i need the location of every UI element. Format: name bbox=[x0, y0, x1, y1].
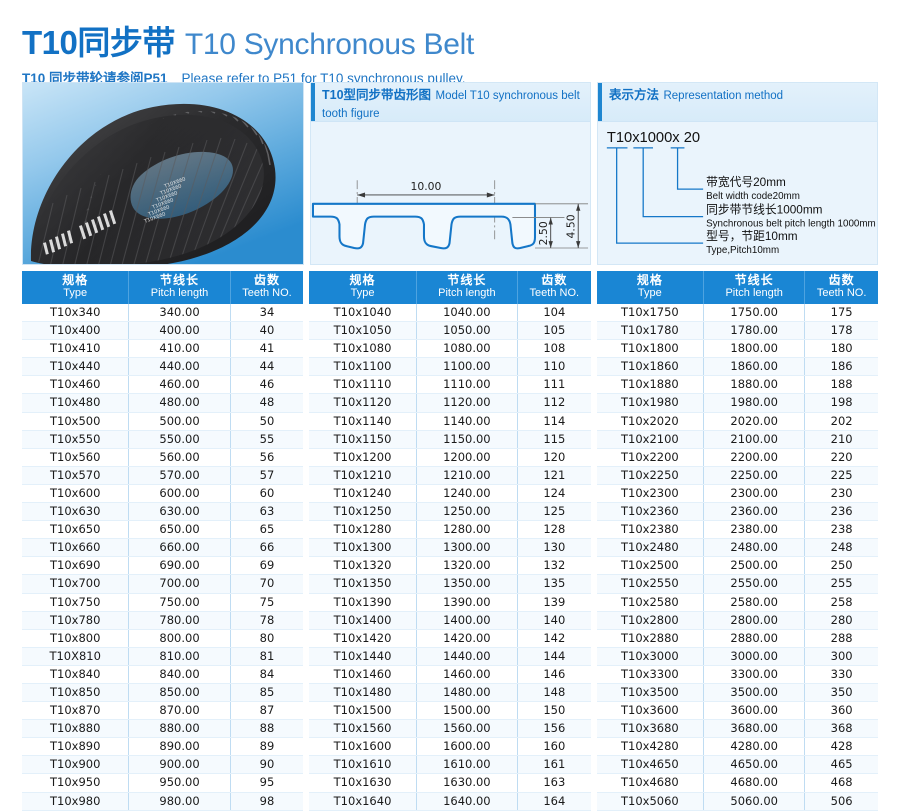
cell-teeth: 300 bbox=[805, 647, 878, 665]
table-row: T10x13901390.00139 bbox=[309, 593, 590, 611]
cell-pitch-length: 1100.00 bbox=[416, 358, 517, 376]
cell-teeth: 248 bbox=[805, 539, 878, 557]
cell-pitch-length: 1250.00 bbox=[416, 503, 517, 521]
header-type-en: Type bbox=[309, 287, 415, 300]
table-row: T10x11001100.00110 bbox=[309, 358, 590, 376]
cell-type: T10x1080 bbox=[309, 340, 416, 358]
cell-teeth: 161 bbox=[517, 756, 590, 774]
table-row: T10x14801480.00148 bbox=[309, 683, 590, 701]
table-row: T10x13501350.00135 bbox=[309, 575, 590, 593]
table-row: T10x42804280.00428 bbox=[597, 738, 878, 756]
cell-pitch-length: 400.00 bbox=[129, 322, 230, 340]
header-type: 规格 Type bbox=[597, 271, 704, 304]
cell-type: T10x400 bbox=[22, 322, 129, 340]
cell-type: T10x560 bbox=[22, 448, 129, 466]
cell-teeth: 238 bbox=[805, 521, 878, 539]
cell-teeth: 130 bbox=[517, 539, 590, 557]
table-row: T10x21002100.00210 bbox=[597, 430, 878, 448]
spec-table-2-body: T10x10401040.00104T10x10501050.00105T10x… bbox=[309, 304, 590, 811]
header-teeth: 齿数 Teeth NO. bbox=[805, 271, 878, 304]
tooth-figure-body: 10.00 bbox=[311, 122, 590, 266]
cell-pitch-length: 1050.00 bbox=[416, 322, 517, 340]
cell-pitch-length: 480.00 bbox=[129, 394, 230, 412]
cell-teeth: 56 bbox=[230, 448, 303, 466]
cell-pitch-length: 2250.00 bbox=[704, 466, 805, 484]
cell-teeth: 85 bbox=[230, 683, 303, 701]
cell-type: T10x3680 bbox=[597, 720, 704, 738]
header-length-cn: 节线长 bbox=[704, 274, 804, 287]
cell-pitch-length: 810.00 bbox=[129, 647, 230, 665]
cell-pitch-length: 2360.00 bbox=[704, 503, 805, 521]
cell-type: T10x1860 bbox=[597, 358, 704, 376]
table-row: T10x18801880.00188 bbox=[597, 376, 878, 394]
cell-pitch-length: 850.00 bbox=[129, 683, 230, 701]
cell-type: T10x1750 bbox=[597, 304, 704, 322]
cell-teeth: 150 bbox=[517, 702, 590, 720]
cell-type: T10x1050 bbox=[309, 322, 416, 340]
table-row: T10x13201320.00132 bbox=[309, 557, 590, 575]
cell-teeth: 128 bbox=[517, 521, 590, 539]
cell-type: T10x480 bbox=[22, 394, 129, 412]
cell-teeth: 255 bbox=[805, 575, 878, 593]
cell-pitch-length: 1300.00 bbox=[416, 539, 517, 557]
cell-teeth: 66 bbox=[230, 539, 303, 557]
header-pitch-length: 节线长 Pitch length bbox=[704, 271, 805, 304]
table-row: T10x500500.0050 bbox=[22, 412, 303, 430]
cell-type: T10x550 bbox=[22, 430, 129, 448]
cell-teeth: 368 bbox=[805, 720, 878, 738]
cell-teeth: 124 bbox=[517, 484, 590, 502]
cell-teeth: 350 bbox=[805, 683, 878, 701]
cell-pitch-length: 2480.00 bbox=[704, 539, 805, 557]
cell-teeth: 258 bbox=[805, 593, 878, 611]
table-row: T10x23802380.00238 bbox=[597, 521, 878, 539]
cell-type: T10x1120 bbox=[309, 394, 416, 412]
table-row: T10x14601460.00146 bbox=[309, 665, 590, 683]
cell-pitch-length: 1600.00 bbox=[416, 738, 517, 756]
cell-type: T10x1800 bbox=[597, 340, 704, 358]
cell-teeth: 132 bbox=[517, 557, 590, 575]
cell-type: T10x950 bbox=[22, 774, 129, 792]
cell-teeth: 220 bbox=[805, 448, 878, 466]
cell-teeth: 360 bbox=[805, 702, 878, 720]
cell-pitch-length: 2380.00 bbox=[704, 521, 805, 539]
cell-pitch-length: 650.00 bbox=[129, 521, 230, 539]
cell-teeth: 111 bbox=[517, 376, 590, 394]
table-row: T10x600600.0060 bbox=[22, 484, 303, 502]
cell-type: T10x4680 bbox=[597, 774, 704, 792]
cell-type: T10x850 bbox=[22, 683, 129, 701]
cell-teeth: 178 bbox=[805, 322, 878, 340]
cell-type: T10x2550 bbox=[597, 575, 704, 593]
cell-pitch-length: 1500.00 bbox=[416, 702, 517, 720]
cell-teeth: 120 bbox=[517, 448, 590, 466]
spec-table-3: 规格 Type 节线长 Pitch length 齿数 Teeth NO. bbox=[597, 271, 878, 811]
cell-pitch-length: 2100.00 bbox=[704, 430, 805, 448]
cell-pitch-length: 4280.00 bbox=[704, 738, 805, 756]
table-row: T10x880880.0088 bbox=[22, 720, 303, 738]
table-row: T10x400400.0040 bbox=[22, 322, 303, 340]
cell-teeth: 250 bbox=[805, 557, 878, 575]
cell-pitch-length: 2580.00 bbox=[704, 593, 805, 611]
cell-teeth: 108 bbox=[517, 340, 590, 358]
cell-teeth: 188 bbox=[805, 376, 878, 394]
table-row: T10x50605060.00506 bbox=[597, 792, 878, 810]
cell-pitch-length: 900.00 bbox=[129, 756, 230, 774]
cell-pitch-length: 980.00 bbox=[129, 792, 230, 810]
cell-type: T10x890 bbox=[22, 738, 129, 756]
cell-pitch-length: 500.00 bbox=[129, 412, 230, 430]
cell-pitch-length: 3680.00 bbox=[704, 720, 805, 738]
cell-teeth: 41 bbox=[230, 340, 303, 358]
cell-teeth: 280 bbox=[805, 611, 878, 629]
representation-method-panel: 表示方法 Representation method T10x1000x 20 bbox=[597, 82, 878, 265]
table-row: T10x22502250.00225 bbox=[597, 466, 878, 484]
cell-type: T10x570 bbox=[22, 466, 129, 484]
cell-type: T10x1880 bbox=[597, 376, 704, 394]
table-row: T10x12801280.00128 bbox=[309, 521, 590, 539]
table-row: T10x650650.0065 bbox=[22, 521, 303, 539]
table-row: T10x11101110.00111 bbox=[309, 376, 590, 394]
representation-body: T10x1000x 20 带宽代号20mm Belt width code20m… bbox=[598, 122, 877, 266]
table-row: T10x460460.0046 bbox=[22, 376, 303, 394]
cell-teeth: 95 bbox=[230, 774, 303, 792]
belt-photo-panel: T10X660 T10X660 T10X660 T10X660 T10X660 … bbox=[22, 82, 304, 265]
table-row: T10x25802580.00258 bbox=[597, 593, 878, 611]
cell-teeth: 105 bbox=[517, 322, 590, 340]
cell-pitch-length: 840.00 bbox=[129, 665, 230, 683]
cell-pitch-length: 1390.00 bbox=[416, 593, 517, 611]
cell-teeth: 55 bbox=[230, 430, 303, 448]
cell-pitch-length: 1120.00 bbox=[416, 394, 517, 412]
leader-lines bbox=[607, 148, 703, 243]
cell-teeth: 180 bbox=[805, 340, 878, 358]
table-row: T10X810810.0081 bbox=[22, 647, 303, 665]
table-row: T10x870870.0087 bbox=[22, 702, 303, 720]
table-row: T10x690690.0069 bbox=[22, 557, 303, 575]
cell-type: T10x5060 bbox=[597, 792, 704, 810]
table-row: T10x11501150.00115 bbox=[309, 430, 590, 448]
cell-type: T10x650 bbox=[22, 521, 129, 539]
cell-type: T10x1480 bbox=[309, 683, 416, 701]
note-0-en: Belt width code20mm bbox=[706, 191, 800, 202]
table-row: T10x780780.0078 bbox=[22, 611, 303, 629]
header-length-en: Pitch length bbox=[129, 287, 229, 300]
header-teeth-en: Teeth NO. bbox=[518, 287, 591, 300]
title-line: T10同步带 T10 Synchronous Belt bbox=[22, 16, 878, 64]
note-0-cn: 带宽代号20mm bbox=[706, 175, 786, 189]
table-row: T10x46804680.00468 bbox=[597, 774, 878, 792]
cell-type: T10x1560 bbox=[309, 720, 416, 738]
note-2-cn: 型号，节距10mm bbox=[706, 229, 798, 243]
cell-teeth: 44 bbox=[230, 358, 303, 376]
spec-table-3-wrap: 规格 Type 节线长 Pitch length 齿数 Teeth NO. bbox=[597, 271, 878, 811]
table-row: T10x11401140.00114 bbox=[309, 412, 590, 430]
header-pitch-length: 节线长 Pitch length bbox=[129, 271, 230, 304]
cell-type: T10x1320 bbox=[309, 557, 416, 575]
cell-type: T10x2800 bbox=[597, 611, 704, 629]
representation-header: 表示方法 Representation method bbox=[598, 83, 877, 122]
cell-pitch-length: 880.00 bbox=[129, 720, 230, 738]
cell-teeth: 50 bbox=[230, 412, 303, 430]
cell-pitch-length: 1800.00 bbox=[704, 340, 805, 358]
cell-teeth: 90 bbox=[230, 756, 303, 774]
table-row: T10x15001500.00150 bbox=[309, 702, 590, 720]
note-1-en: Synchronous belt pitch length 1000mm bbox=[706, 218, 876, 229]
table-row: T10x560560.0056 bbox=[22, 448, 303, 466]
cell-pitch-length: 1880.00 bbox=[704, 376, 805, 394]
cell-type: T10x1610 bbox=[309, 756, 416, 774]
cell-type: T10x2200 bbox=[597, 448, 704, 466]
representation-code: T10x1000x 20 bbox=[607, 130, 700, 146]
table-row: T10x17501750.00175 bbox=[597, 304, 878, 322]
header-length-cn: 节线长 bbox=[129, 274, 229, 287]
representation-title-en: Representation method bbox=[663, 90, 783, 102]
cell-type: T10x880 bbox=[22, 720, 129, 738]
cell-pitch-length: 1460.00 bbox=[416, 665, 517, 683]
cell-type: T10x1400 bbox=[309, 611, 416, 629]
cell-type: T10x2880 bbox=[597, 629, 704, 647]
page-title-block: T10同步带 T10 Synchronous Belt T10 同步带轮请参阅P… bbox=[22, 16, 878, 87]
table-row: T10x22002200.00220 bbox=[597, 448, 878, 466]
cell-pitch-length: 1320.00 bbox=[416, 557, 517, 575]
spec-table-3-body: T10x17501750.00175T10x17801780.00178T10x… bbox=[597, 304, 878, 811]
cell-type: T10x800 bbox=[22, 629, 129, 647]
table-row: T10x25502550.00255 bbox=[597, 575, 878, 593]
cell-type: T10x780 bbox=[22, 611, 129, 629]
cell-teeth: 87 bbox=[230, 702, 303, 720]
cell-pitch-length: 870.00 bbox=[129, 702, 230, 720]
cell-pitch-length: 1200.00 bbox=[416, 448, 517, 466]
cell-teeth: 146 bbox=[517, 665, 590, 683]
cell-type: T10x980 bbox=[22, 792, 129, 810]
cell-pitch-length: 1210.00 bbox=[416, 466, 517, 484]
cell-type: T10x3300 bbox=[597, 665, 704, 683]
table-header-row: 规格 Type 节线长 Pitch length 齿数 Teeth NO. bbox=[309, 271, 590, 304]
cell-pitch-length: 3500.00 bbox=[704, 683, 805, 701]
table-row: T10x12401240.00124 bbox=[309, 484, 590, 502]
table-row: T10x14401440.00144 bbox=[309, 647, 590, 665]
cell-teeth: 78 bbox=[230, 611, 303, 629]
cell-teeth: 236 bbox=[805, 503, 878, 521]
cell-type: T10x1640 bbox=[309, 792, 416, 810]
cell-teeth: 175 bbox=[805, 304, 878, 322]
cell-teeth: 115 bbox=[517, 430, 590, 448]
table-row: T10x25002500.00250 bbox=[597, 557, 878, 575]
cell-pitch-length: 1780.00 bbox=[704, 322, 805, 340]
representation-title-cn: 表示方法 bbox=[609, 88, 659, 102]
cell-pitch-length: 1110.00 bbox=[416, 376, 517, 394]
cell-teeth: 98 bbox=[230, 792, 303, 810]
cell-type: T10x2580 bbox=[597, 593, 704, 611]
cell-teeth: 225 bbox=[805, 466, 878, 484]
cell-teeth: 84 bbox=[230, 665, 303, 683]
spec-table-2: 规格 Type 节线长 Pitch length 齿数 Teeth NO. bbox=[309, 271, 590, 811]
table-row: T10x440440.0044 bbox=[22, 358, 303, 376]
cell-pitch-length: 1860.00 bbox=[704, 358, 805, 376]
tooth-figure-title-cn: T10型同步带齿形图 bbox=[322, 88, 431, 102]
total-thickness-label: 4.50 bbox=[564, 214, 577, 238]
cell-type: T10x3500 bbox=[597, 683, 704, 701]
cell-pitch-length: 2500.00 bbox=[704, 557, 805, 575]
cell-pitch-length: 1440.00 bbox=[416, 647, 517, 665]
tooth-figure-header: T10型同步带齿形图 Model T10 synchronous belt to… bbox=[311, 83, 590, 122]
pitch-dimension-label: 10.00 bbox=[410, 180, 441, 193]
table-row: T10x36003600.00360 bbox=[597, 702, 878, 720]
header-teeth-en: Teeth NO. bbox=[805, 287, 878, 300]
cell-teeth: 34 bbox=[230, 304, 303, 322]
cell-teeth: 330 bbox=[805, 665, 878, 683]
cell-type: T10x4280 bbox=[597, 738, 704, 756]
spec-tables: 规格 Type 节线长 Pitch length 齿数 Teeth NO. bbox=[22, 271, 878, 811]
header-pitch-length: 节线长 Pitch length bbox=[416, 271, 517, 304]
cell-pitch-length: 1040.00 bbox=[416, 304, 517, 322]
cell-teeth: 164 bbox=[517, 792, 590, 810]
cell-pitch-length: 1140.00 bbox=[416, 412, 517, 430]
cell-type: T10x900 bbox=[22, 756, 129, 774]
cell-teeth: 506 bbox=[805, 792, 878, 810]
table-row: T10x700700.0070 bbox=[22, 575, 303, 593]
table-row: T10x28802880.00288 bbox=[597, 629, 878, 647]
table-row: T10x850850.0085 bbox=[22, 683, 303, 701]
cell-type: T10x340 bbox=[22, 304, 129, 322]
table-header-row: 规格 Type 节线长 Pitch length 齿数 Teeth NO. bbox=[597, 271, 878, 304]
cell-pitch-length: 1980.00 bbox=[704, 394, 805, 412]
cell-type: T10x2300 bbox=[597, 484, 704, 502]
cell-pitch-length: 950.00 bbox=[129, 774, 230, 792]
table-row: T10x570570.0057 bbox=[22, 466, 303, 484]
table-row: T10x12101210.00121 bbox=[309, 466, 590, 484]
table-row: T10x30003000.00300 bbox=[597, 647, 878, 665]
table-row: T10x900900.0090 bbox=[22, 756, 303, 774]
spec-table-1: 规格 Type 节线长 Pitch length 齿数 Teeth NO. bbox=[22, 271, 303, 811]
cell-type: T10x1200 bbox=[309, 448, 416, 466]
table-row: T10x480480.0048 bbox=[22, 394, 303, 412]
cell-teeth: 75 bbox=[230, 593, 303, 611]
cell-pitch-length: 2880.00 bbox=[704, 629, 805, 647]
cell-pitch-length: 890.00 bbox=[129, 738, 230, 756]
cell-teeth: 160 bbox=[517, 738, 590, 756]
cell-type: T10x1140 bbox=[309, 412, 416, 430]
cell-type: T10x2100 bbox=[597, 430, 704, 448]
table-row: T10x16401640.00164 bbox=[309, 792, 590, 810]
cell-teeth: 142 bbox=[517, 629, 590, 647]
header-teeth: 齿数 Teeth NO. bbox=[230, 271, 303, 304]
belt-tooth-profile bbox=[313, 204, 535, 249]
cell-type: T10x1110 bbox=[309, 376, 416, 394]
table-row: T10x16101610.00161 bbox=[309, 756, 590, 774]
header-teeth-cn: 齿数 bbox=[518, 274, 591, 287]
table-row: T10x46504650.00465 bbox=[597, 756, 878, 774]
cell-pitch-length: 1630.00 bbox=[416, 774, 517, 792]
table-row: T10x10401040.00104 bbox=[309, 304, 590, 322]
cell-pitch-length: 4650.00 bbox=[704, 756, 805, 774]
cell-pitch-length: 1240.00 bbox=[416, 484, 517, 502]
cell-type: T10x1040 bbox=[309, 304, 416, 322]
cell-teeth: 57 bbox=[230, 466, 303, 484]
cell-type: T10x4650 bbox=[597, 756, 704, 774]
cell-teeth: 110 bbox=[517, 358, 590, 376]
note-1-cn: 同步带节线长1000mm bbox=[706, 203, 823, 217]
cell-type: T10x1390 bbox=[309, 593, 416, 611]
cell-type: T10x1780 bbox=[597, 322, 704, 340]
cell-type: T10x2250 bbox=[597, 466, 704, 484]
cell-pitch-length: 340.00 bbox=[129, 304, 230, 322]
cell-type: T10x630 bbox=[22, 503, 129, 521]
cell-pitch-length: 1280.00 bbox=[416, 521, 517, 539]
cell-type: T10x2360 bbox=[597, 503, 704, 521]
cell-type: T10x1280 bbox=[309, 521, 416, 539]
cell-teeth: 163 bbox=[517, 774, 590, 792]
cell-type: T10x1300 bbox=[309, 539, 416, 557]
table-row: T10x630630.0063 bbox=[22, 503, 303, 521]
cell-type: T10x410 bbox=[22, 340, 129, 358]
table-row: T10x23002300.00230 bbox=[597, 484, 878, 502]
header-type-cn: 规格 bbox=[309, 274, 415, 287]
cell-pitch-length: 410.00 bbox=[129, 340, 230, 358]
table-row: T10x14201420.00142 bbox=[309, 629, 590, 647]
cell-type: T10x870 bbox=[22, 702, 129, 720]
cell-pitch-length: 460.00 bbox=[129, 376, 230, 394]
cell-type: T10x1500 bbox=[309, 702, 416, 720]
cell-type: T10x1460 bbox=[309, 665, 416, 683]
cell-pitch-length: 1610.00 bbox=[416, 756, 517, 774]
header-teeth: 齿数 Teeth NO. bbox=[517, 271, 590, 304]
tooth-profile-drawing: 10.00 bbox=[311, 122, 590, 266]
cell-teeth: 125 bbox=[517, 503, 590, 521]
cell-teeth: 65 bbox=[230, 521, 303, 539]
tooth-figure-panel: T10型同步带齿形图 Model T10 synchronous belt to… bbox=[310, 82, 591, 265]
cell-type: T10x1420 bbox=[309, 629, 416, 647]
representation-diagram: T10x1000x 20 带宽代号20mm Belt width code20m… bbox=[598, 122, 877, 266]
spec-table-1-wrap: 规格 Type 节线长 Pitch length 齿数 Teeth NO. bbox=[22, 271, 303, 811]
cell-pitch-length: 1750.00 bbox=[704, 304, 805, 322]
cell-pitch-length: 600.00 bbox=[129, 484, 230, 502]
table-row: T10x12501250.00125 bbox=[309, 503, 590, 521]
cell-pitch-length: 660.00 bbox=[129, 539, 230, 557]
cell-pitch-length: 1080.00 bbox=[416, 340, 517, 358]
table-row: T10x10801080.00108 bbox=[309, 340, 590, 358]
cell-type: T10x1210 bbox=[309, 466, 416, 484]
cell-teeth: 144 bbox=[517, 647, 590, 665]
cell-teeth: 104 bbox=[517, 304, 590, 322]
cell-pitch-length: 570.00 bbox=[129, 466, 230, 484]
cell-teeth: 140 bbox=[517, 611, 590, 629]
header-teeth-en: Teeth NO. bbox=[231, 287, 304, 300]
header-type: 规格 Type bbox=[22, 271, 129, 304]
table-row: T10x20202020.00202 bbox=[597, 412, 878, 430]
cell-type: T10x2020 bbox=[597, 412, 704, 430]
table-row: T10x840840.0084 bbox=[22, 665, 303, 683]
cell-teeth: 202 bbox=[805, 412, 878, 430]
table-row: T10x800800.0080 bbox=[22, 629, 303, 647]
cell-pitch-length: 440.00 bbox=[129, 358, 230, 376]
table-row: T10x890890.0089 bbox=[22, 738, 303, 756]
datasheet-page: T10同步带 T10 Synchronous Belt T10 同步带轮请参阅P… bbox=[0, 0, 900, 811]
cell-type: T10X810 bbox=[22, 647, 129, 665]
cell-teeth: 288 bbox=[805, 629, 878, 647]
cell-type: T10x700 bbox=[22, 575, 129, 593]
cell-teeth: 112 bbox=[517, 394, 590, 412]
header-length-cn: 节线长 bbox=[417, 274, 517, 287]
cell-teeth: 156 bbox=[517, 720, 590, 738]
cell-type: T10x1600 bbox=[309, 738, 416, 756]
table-row: T10x16301630.00163 bbox=[309, 774, 590, 792]
page-title-en: T10 Synchronous Belt bbox=[185, 28, 474, 62]
cell-pitch-length: 700.00 bbox=[129, 575, 230, 593]
cell-pitch-length: 3600.00 bbox=[704, 702, 805, 720]
table-row: T10x36803680.00368 bbox=[597, 720, 878, 738]
